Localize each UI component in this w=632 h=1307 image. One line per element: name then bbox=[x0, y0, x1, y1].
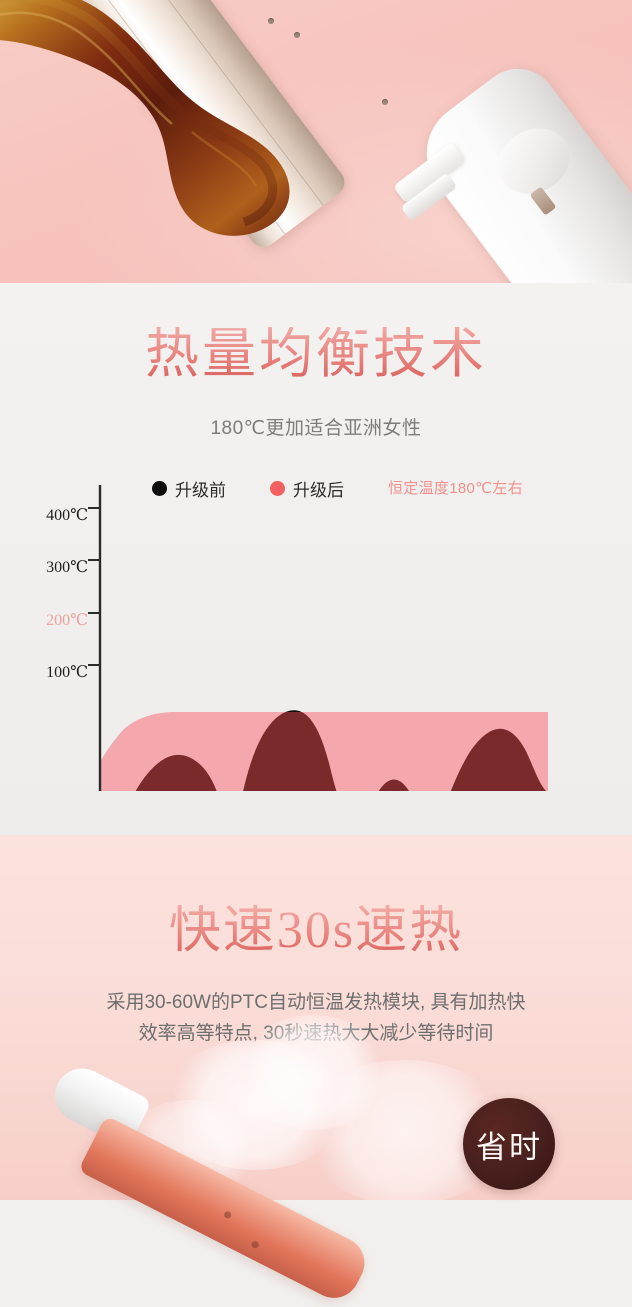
badge-label: 省时 bbox=[476, 1122, 542, 1167]
product-detail-page: 热量均衡技术 180℃更加适合亚洲女性 升级前 升级后 恒定温度180℃左右 4… bbox=[0, 0, 632, 1200]
hair-strand bbox=[0, 0, 400, 247]
section-heading-heat-balance: 热量均衡技术 bbox=[0, 327, 632, 381]
wand-vent-icon bbox=[250, 1240, 259, 1249]
body-line-1: 采用30-60W的PTC自动恒温发热模块, 具有加热快 bbox=[0, 987, 632, 1018]
heat-balance-section: 热量均衡技术 180℃更加适合亚洲女性 升级前 升级后 恒定温度180℃左右 4… bbox=[0, 283, 632, 835]
wand-vent-icon bbox=[223, 1210, 232, 1219]
status-badge: 省时 bbox=[463, 1098, 555, 1190]
section-heading-fast-heating: 快速30s速热 bbox=[0, 905, 632, 957]
temperature-chart bbox=[0, 471, 632, 791]
hero-product-image bbox=[0, 0, 632, 283]
section-subheading-heat-balance: 180℃更加适合亚洲女性 bbox=[0, 413, 632, 440]
